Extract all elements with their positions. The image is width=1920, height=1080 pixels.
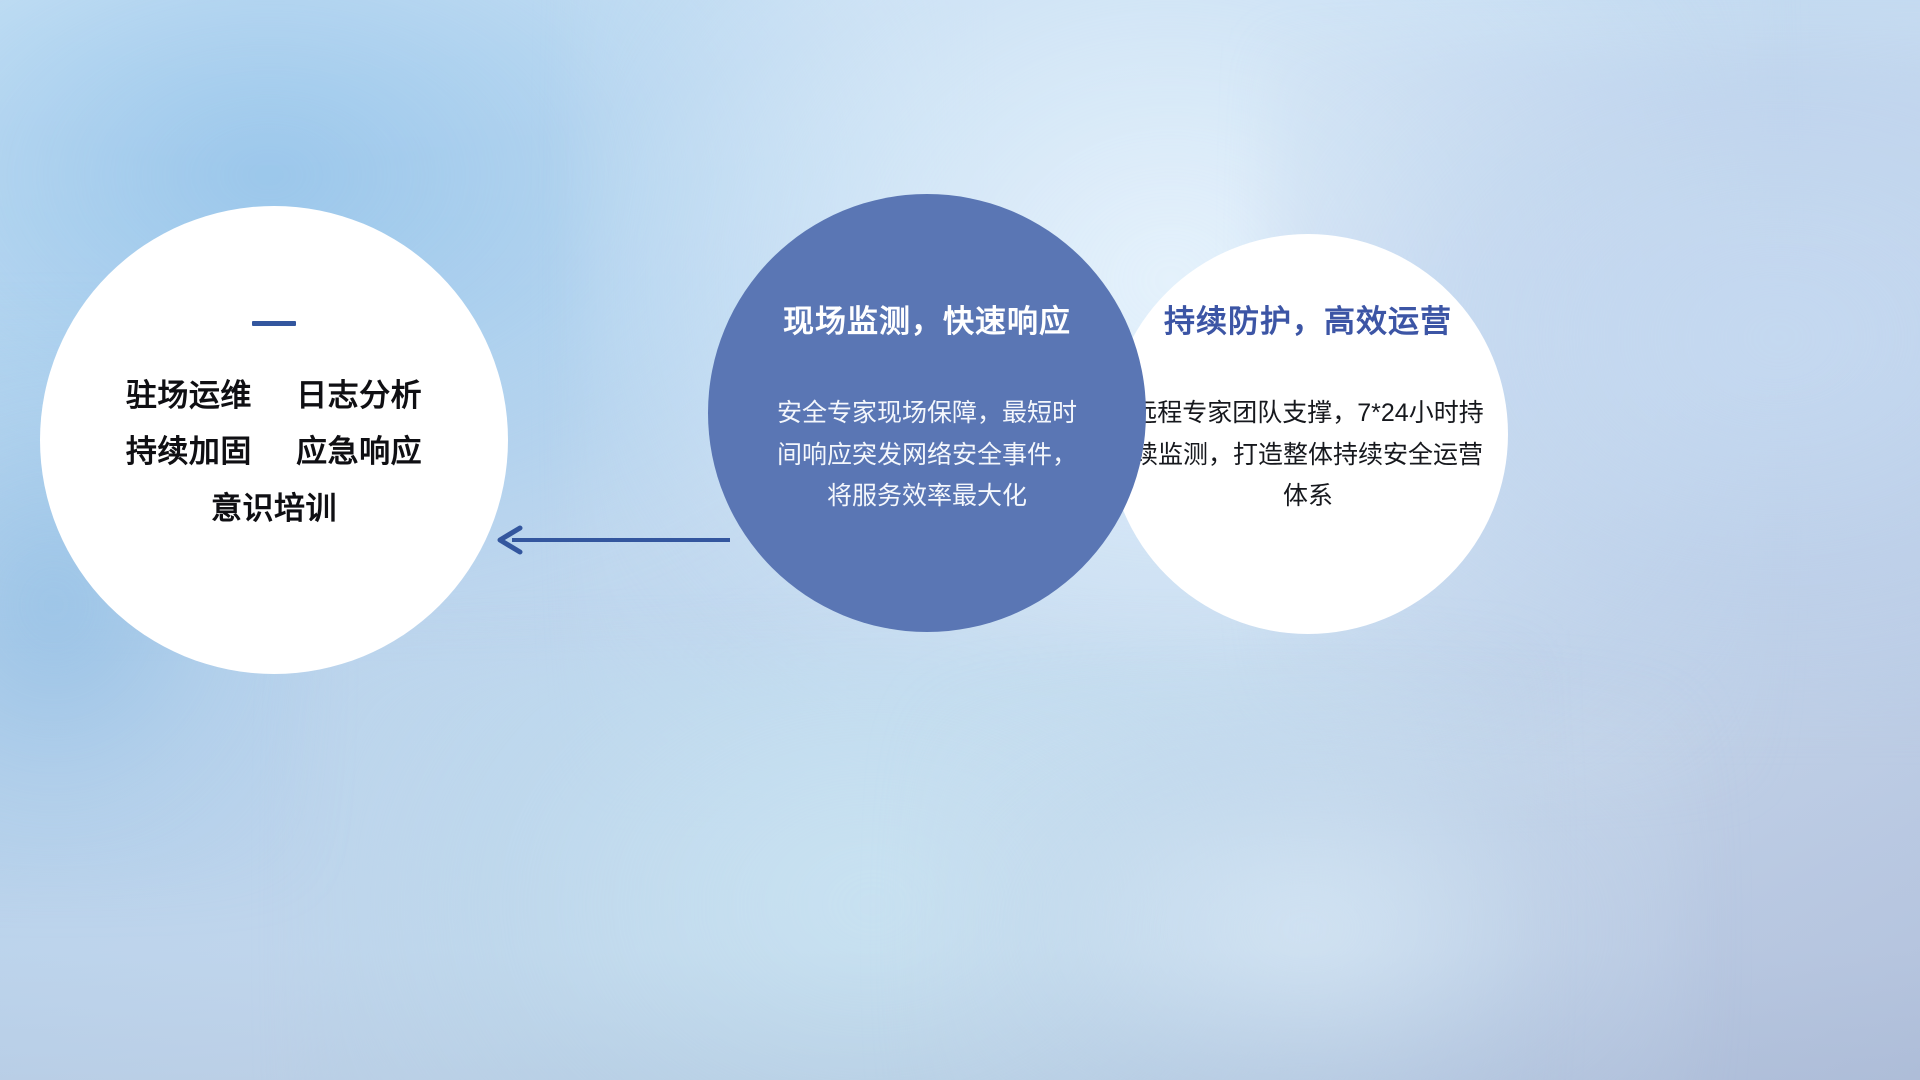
divider-dash-icon — [252, 321, 296, 326]
onsite-monitoring-circle[interactable]: 现场监测，快速响应 安全专家现场保障，最短时间响应突发网络安全事件，将服务效率最… — [708, 194, 1146, 632]
continuous-protection-body: 远程专家团队支撑，7*24小时持续监测，打造整体持续安全运营体系 — [1129, 393, 1487, 518]
keyword-list: 驻场运维 日志分析 持续加固 应急响应 意识培训 — [126, 368, 422, 537]
onsite-monitoring-body: 安全专家现场保障，最短时间响应突发网络安全事件，将服务效率最大化 — [777, 393, 1077, 518]
onsite-monitoring-title: 现场监测，快速响应 — [783, 296, 1071, 341]
keyword-row: 驻场运维 日志分析 — [126, 368, 422, 424]
arrow-left-icon — [492, 515, 732, 565]
keyword-onsite-ops: 驻场运维 — [126, 378, 252, 413]
slide-canvas: 驻场运维 日志分析 持续加固 应急响应 意识培训 现场监测，快速响应 安全专家现… — [0, 0, 1920, 1080]
continuous-protection-circle[interactable]: 持续防护，高效运营 远程专家团队支撑，7*24小时持续监测，打造整体持续安全运营… — [1108, 234, 1508, 634]
keyword-emergency-response: 应急响应 — [296, 434, 422, 469]
keyword-log-analysis: 日志分析 — [296, 378, 422, 413]
keyword-row: 意识培训 — [126, 481, 422, 537]
flow-arrow — [492, 515, 732, 565]
keywords-circle[interactable]: 驻场运维 日志分析 持续加固 应急响应 意识培训 — [40, 206, 508, 674]
keyword-continuous-hardening: 持续加固 — [126, 434, 252, 469]
keyword-row: 持续加固 应急响应 — [126, 424, 422, 480]
keyword-awareness-training: 意识培训 — [211, 491, 337, 526]
continuous-protection-title: 持续防护，高效运营 — [1164, 296, 1452, 341]
